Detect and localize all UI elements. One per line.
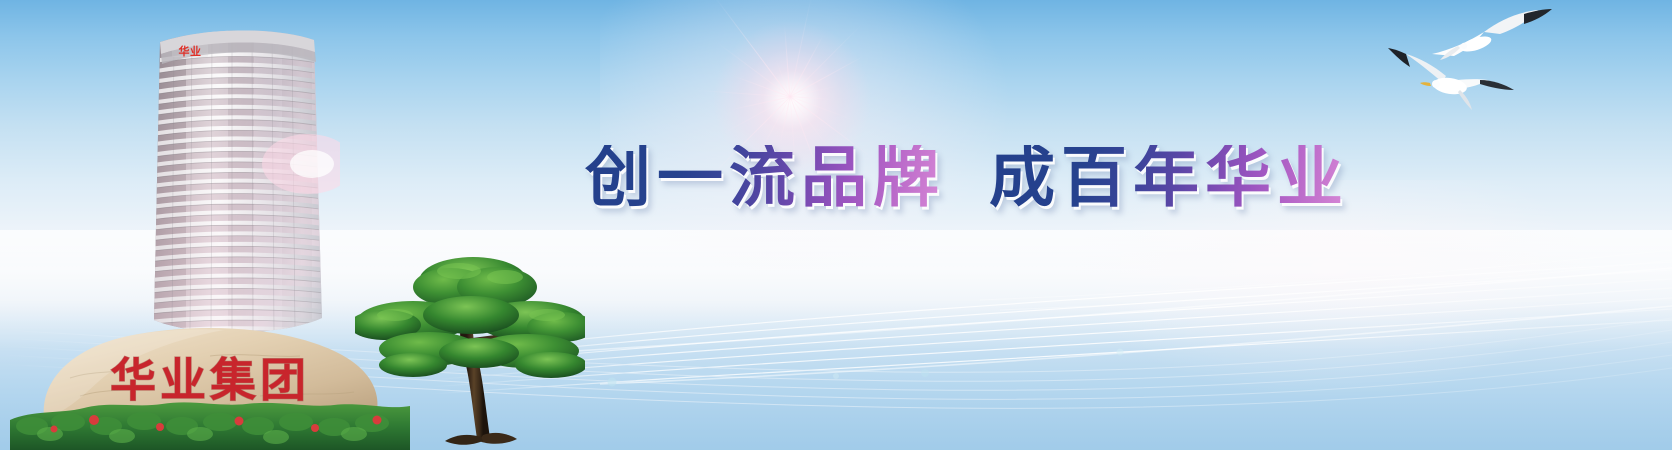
svg-text:华业: 华业 <box>179 44 202 58</box>
monument-engraved-text: 华业集团 <box>110 353 310 407</box>
building-sign-icon: 华业 <box>172 44 208 58</box>
sun-flare-icon <box>712 20 872 180</box>
slogan-line-1: 创一流品牌 <box>585 145 945 211</box>
office-tower-illustration: 华业 <box>132 18 340 348</box>
slogan-line-2: 成百年华业 <box>989 145 1349 211</box>
seagull-icon <box>1380 42 1530 117</box>
slogan-banner: 创一流品牌 成百年华业 <box>585 128 1365 228</box>
hero-banner: 华业 <box>0 0 1672 450</box>
seagull-icon <box>1424 8 1554 68</box>
company-stone-monument: 华业集团 <box>10 300 410 450</box>
